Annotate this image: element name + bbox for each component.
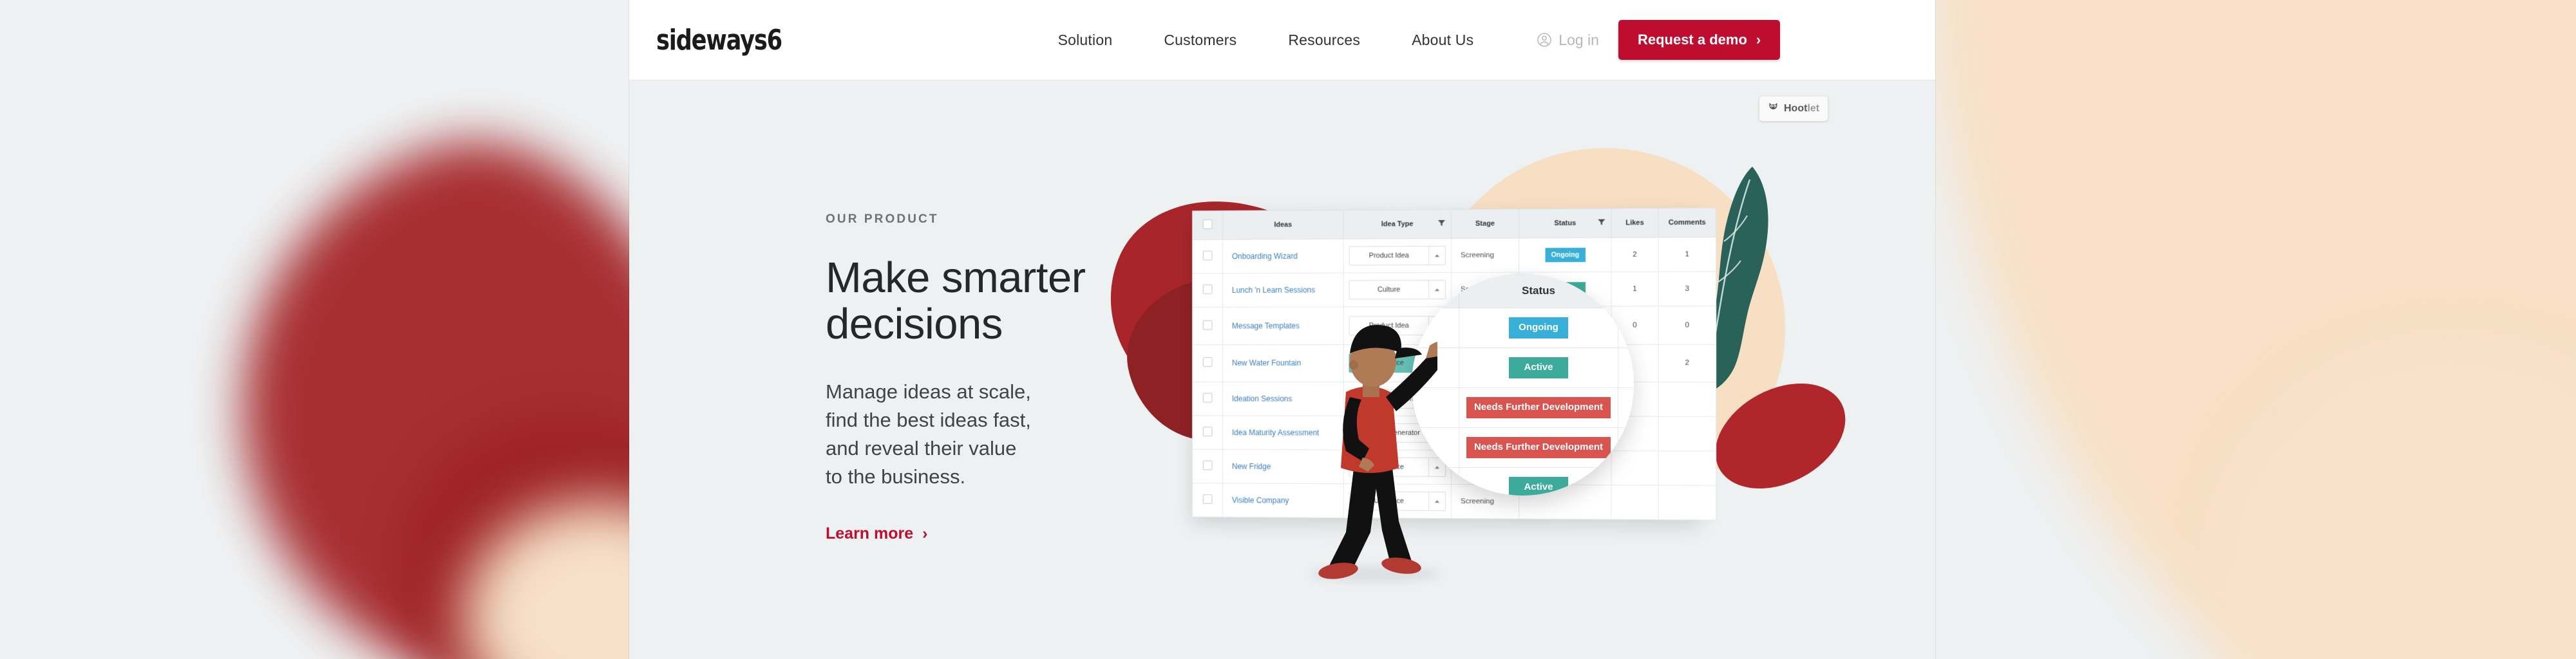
subcopy-line-3: and reveal their value	[826, 437, 1016, 459]
hero-subcopy: Manage ideas at scale, find the best ide…	[826, 378, 1128, 491]
cell-stage: Screening	[1451, 238, 1519, 273]
subcopy-line-1: Manage ideas at scale,	[826, 380, 1031, 403]
magnified-column-header-status[interactable]: Status	[1459, 274, 1618, 308]
hootlet-label-light: let	[1807, 103, 1819, 114]
nav-link-about-us[interactable]: About Us	[1386, 32, 1499, 49]
headline-line-2: decisions	[826, 300, 1003, 348]
cell-comments	[1658, 382, 1716, 417]
cell-comments	[1658, 451, 1716, 486]
column-header-idea-type-label: Idea Type	[1381, 220, 1414, 228]
magnified-cell-comments: 0	[1618, 388, 1634, 428]
row-checkbox[interactable]	[1203, 427, 1213, 436]
magnified-cell-status: Needs Further Development	[1459, 428, 1618, 468]
owl-icon	[1768, 102, 1779, 116]
select-all-checkbox[interactable]	[1203, 219, 1213, 229]
person-pointing-illustration	[1296, 313, 1437, 590]
magnified-cell-status: Active	[1459, 468, 1618, 496]
hero-section: OUR PRODUCT Make smarter decisions Manag…	[629, 80, 1935, 659]
magnified-cell-status: Ongoing	[1459, 308, 1618, 348]
chevron-right-icon: ›	[1756, 32, 1761, 48]
magnifier-lens: Status ScreeningOngoing2ScreeningActive1…	[1412, 274, 1634, 496]
table-row[interactable]: Onboarding WizardProduct IdeaScreeningOn…	[1193, 237, 1716, 273]
magnified-status-table: Status ScreeningOngoing2ScreeningActive1…	[1412, 274, 1634, 496]
magnifier-content: Status ScreeningOngoing2ScreeningActive1…	[1412, 274, 1634, 496]
nav-link-solution[interactable]: Solution	[1032, 32, 1139, 49]
row-checkbox-cell[interactable]	[1193, 307, 1223, 344]
request-a-demo-label: Request a demo	[1638, 32, 1747, 48]
row-checkbox-cell[interactable]	[1193, 449, 1223, 483]
filter-icon[interactable]	[1598, 219, 1605, 228]
row-checkbox-cell[interactable]	[1193, 274, 1223, 308]
primary-navigation: Solution Customers Resources About Us	[1032, 32, 1500, 49]
row-checkbox[interactable]	[1203, 461, 1213, 470]
column-header-status[interactable]: Status	[1519, 209, 1611, 238]
headline-line-1: Make smarter	[826, 254, 1086, 302]
login-link[interactable]: Log in	[1537, 32, 1599, 49]
page-title: Make smarter decisions	[826, 255, 1128, 347]
magnified-table-row: ScreeningNeeds Further Development0	[1412, 428, 1634, 468]
cell-comments	[1658, 416, 1716, 451]
learn-more-label: Learn more	[826, 524, 913, 543]
row-checkbox[interactable]	[1203, 251, 1213, 261]
status-badge: Needs Further Development	[1466, 437, 1611, 458]
row-checkbox-cell[interactable]	[1193, 344, 1223, 382]
row-checkbox[interactable]	[1203, 320, 1213, 329]
hootlet-label: Hootlet	[1784, 103, 1819, 115]
column-header-likes[interactable]: Likes	[1611, 209, 1658, 238]
request-a-demo-button[interactable]: Request a demo ›	[1618, 20, 1780, 60]
idea-type-value: Product Idea	[1350, 246, 1428, 265]
magnified-header-row: Status	[1412, 274, 1634, 308]
product-illustration: Ideas Idea Type Stage Status	[1189, 87, 1935, 659]
cell-comments: 1	[1658, 237, 1716, 272]
chevron-up-icon[interactable]	[1428, 246, 1445, 265]
user-circle-icon	[1537, 32, 1552, 48]
row-checkbox-cell[interactable]	[1193, 239, 1223, 274]
idea-type-select[interactable]: Product Idea	[1349, 246, 1446, 266]
ideas-table-head: Ideas Idea Type Stage Status	[1193, 208, 1716, 239]
magnified-cell-status: Needs Further Development	[1459, 388, 1618, 428]
magnified-table-row: ScreeningActive1	[1412, 468, 1634, 496]
cell-comments: 2	[1658, 344, 1716, 382]
status-badge: Ongoing	[1545, 248, 1586, 263]
cell-comments: 3	[1658, 272, 1716, 306]
magnified-table-head: Status	[1412, 274, 1634, 308]
status-badge: Ongoing	[1509, 317, 1568, 338]
cell-idea[interactable]: Lunch 'n Learn Sessions	[1223, 273, 1344, 307]
cell-comments	[1658, 485, 1716, 520]
row-checkbox[interactable]	[1203, 393, 1213, 403]
magnified-cell-comments: 2	[1618, 308, 1634, 348]
column-header-idea-type[interactable]: Idea Type	[1343, 209, 1451, 239]
magnified-status-label: Status	[1522, 284, 1555, 297]
chevron-right-icon: ›	[922, 524, 927, 543]
magnified-cell-comments: 1	[1618, 468, 1634, 496]
magnified-cell-status: Active	[1459, 348, 1618, 388]
nav-link-customers[interactable]: Customers	[1138, 32, 1262, 49]
cell-status[interactable]: Ongoing	[1519, 237, 1611, 272]
row-checkbox-cell[interactable]	[1193, 382, 1223, 416]
navbar-actions: Log in Request a demo ›	[1537, 20, 1780, 60]
sideways6-logo[interactable]: sideways6	[656, 24, 782, 57]
status-badge: Active	[1509, 357, 1568, 378]
row-checkbox-cell[interactable]	[1193, 416, 1223, 450]
magnified-column-header-stage	[1412, 274, 1459, 308]
table-header-row: Ideas Idea Type Stage Status	[1193, 208, 1716, 239]
row-checkbox-cell[interactable]	[1193, 483, 1223, 517]
row-checkbox[interactable]	[1203, 357, 1213, 367]
cell-likes: 2	[1611, 237, 1658, 272]
site-panel: sideways6 Solution Customers Resources A…	[629, 0, 1935, 659]
magnified-cell-comments: 0	[1618, 428, 1634, 468]
column-header-status-label: Status	[1554, 219, 1576, 227]
cell-comments: 0	[1658, 306, 1716, 344]
magnified-table-row: ScreeningActive1	[1412, 348, 1634, 388]
filter-icon[interactable]	[1602, 284, 1612, 298]
login-label: Log in	[1558, 32, 1599, 49]
site-navbar: sideways6 Solution Customers Resources A…	[629, 0, 1935, 80]
magnified-column-header-comments	[1618, 274, 1634, 308]
magnified-table-row: ScreeningNeeds Further Development0	[1412, 388, 1634, 428]
magnified-cell-comments: 1	[1618, 348, 1634, 388]
subcopy-line-4: to the business.	[826, 465, 965, 488]
column-header-ideas[interactable]: Ideas	[1223, 210, 1344, 239]
column-header-comments[interactable]: Comments	[1658, 208, 1716, 237]
hootlet-label-dark: Hoot	[1784, 103, 1807, 114]
row-checkbox[interactable]	[1203, 494, 1213, 504]
status-badge: Needs Further Development	[1466, 397, 1611, 418]
row-checkbox[interactable]	[1203, 284, 1213, 294]
cell-idea-type[interactable]: Product Idea	[1343, 238, 1451, 273]
filter-icon[interactable]	[1438, 219, 1445, 228]
magnified-table-body: ScreeningOngoing2ScreeningActive1Screeni…	[1412, 308, 1634, 496]
learn-more-link[interactable]: Learn more ›	[826, 524, 928, 543]
cell-idea[interactable]: Onboarding Wizard	[1223, 239, 1344, 273]
hootlet-badge[interactable]: Hootlet	[1759, 97, 1828, 121]
subcopy-line-2: find the best ideas fast,	[826, 409, 1031, 431]
column-header-stage[interactable]: Stage	[1451, 209, 1519, 239]
eyebrow-label: OUR PRODUCT	[826, 212, 1128, 227]
nav-link-resources[interactable]: Resources	[1262, 32, 1386, 49]
hero-copy: OUR PRODUCT Make smarter decisions Manag…	[826, 212, 1128, 543]
magnified-table-row: ScreeningOngoing2	[1412, 308, 1634, 348]
column-header-select[interactable]	[1193, 211, 1223, 240]
status-badge: Active	[1509, 477, 1568, 496]
